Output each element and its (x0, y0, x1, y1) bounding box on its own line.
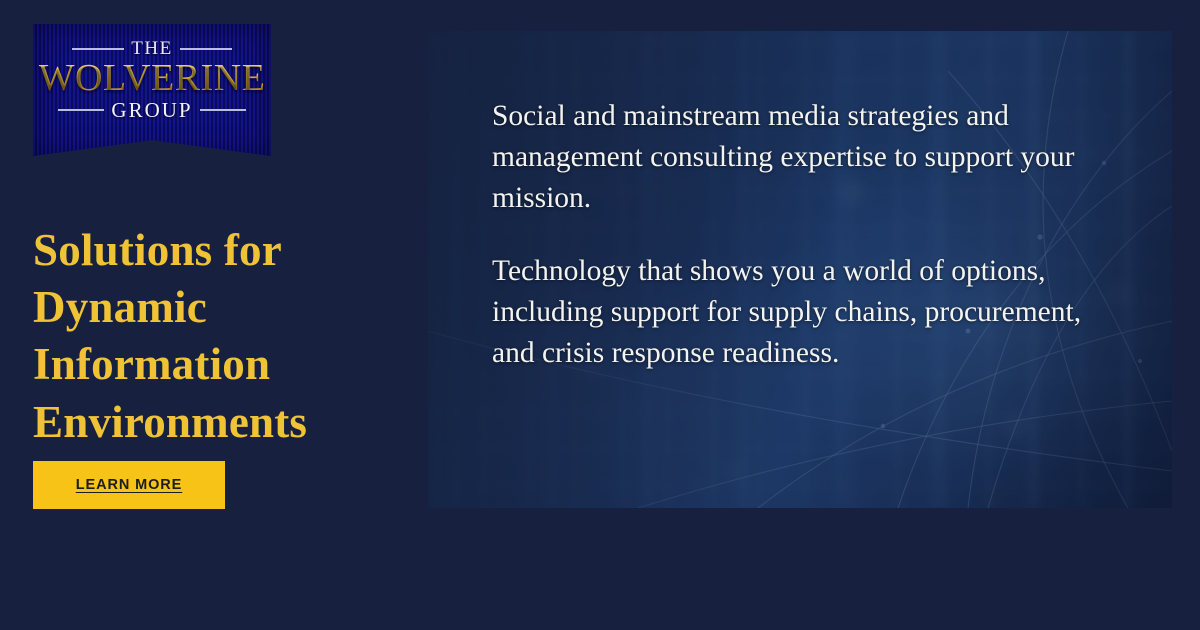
logo-rule-left-lower-icon (58, 109, 104, 111)
headline-line-2: Dynamic (33, 279, 413, 336)
panel-paragraph-2: Technology that shows you a world of opt… (492, 251, 1117, 374)
logo-rule-right-icon (180, 48, 232, 50)
learn-more-label: LEARN MORE (76, 477, 182, 493)
page-title: Solutions for Dynamic Information Enviro… (33, 222, 413, 451)
panel-copy: Social and mainstream media strategies a… (492, 96, 1117, 374)
logo-group-row: GROUP (33, 100, 271, 121)
feature-panel: Social and mainstream media strategies a… (428, 31, 1172, 508)
logo-the-text: THE (131, 39, 172, 58)
left-column: THE WOLVERINE GROUP Solutions for Dynami… (0, 0, 428, 630)
hero-banner: THE WOLVERINE GROUP Solutions for Dynami… (0, 0, 1200, 630)
panel-paragraph-1: Social and mainstream media strategies a… (492, 96, 1117, 219)
logo-rule-right-lower-icon (200, 109, 246, 111)
logo-inner: THE WOLVERINE GROUP (33, 24, 271, 136)
headline-line-1: Solutions for (33, 222, 413, 279)
learn-more-button[interactable]: LEARN MORE (33, 461, 225, 509)
headline-line-4: Environments (33, 394, 413, 451)
wolverine-group-logo[interactable]: THE WOLVERINE GROUP (33, 24, 271, 156)
logo-the-row: THE (33, 39, 271, 58)
headline-line-3: Information (33, 336, 413, 393)
logo-group-text: GROUP (111, 100, 192, 121)
logo-rule-left-icon (72, 48, 124, 50)
logo-wolverine-text: WOLVERINE (39, 59, 266, 99)
